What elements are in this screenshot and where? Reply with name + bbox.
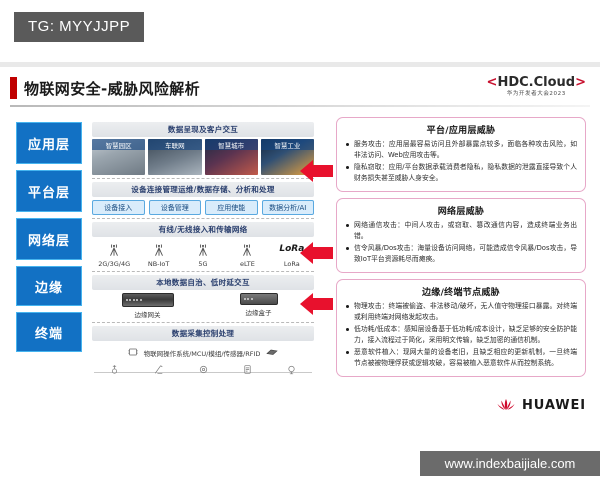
app-card-smart-industry-label: 智慧工业	[261, 139, 314, 150]
list-item: 恶意软件植入：现网大量的设备老旧，且缺乏相应的更新机制，一旦终端节点被被物理俘获…	[345, 347, 577, 369]
camera-icon	[181, 363, 225, 376]
edge-item-row: 边缘网关 边缘盒子	[92, 293, 314, 319]
list-item: 服务攻击：应用层最容易访问且外部暴露点较多，面临各种攻击风险，如非法访问、Web…	[345, 139, 577, 161]
list-item: 物理攻击：终端被偷盗、非法移动/破坏，无人值守物理接口暴露。对终端或利用终端对网…	[345, 301, 577, 323]
network-item-nbiot[interactable]: NB-IoT	[136, 240, 180, 268]
platform-button-app-enablement[interactable]: 应用使能	[205, 200, 258, 215]
panel-network-layer-list: 网络通信攻击：中间人攻击，或窃取、篡改通信内容，造成终端业务出错。 信令风暴/D…	[345, 220, 577, 265]
edge-item-gateway-label: 边缘网关	[92, 309, 203, 319]
separator-network-edge	[92, 271, 314, 272]
layer-column: 应用层 平台层 网络层 边缘 终端	[16, 122, 82, 358]
huawei-logo: HUAWEI	[495, 397, 586, 413]
panel-platform-application-title: 平台/应用层威胁	[345, 123, 577, 136]
panel-network-layer-threats: 网络层威胁 网络通信攻击：中间人攻击，或窃取、篡改通信内容，造成终端业务出错。 …	[336, 198, 586, 273]
band-edge-header: 本地数据自治、低时延交互	[92, 275, 314, 290]
list-item: 信令风暴/Dos攻击：海量设备访问网络，可能造成信令风暴/Dos攻击，导致IoT…	[345, 243, 577, 265]
layer-network-label: 网络层	[28, 230, 70, 249]
platform-button-data-analytics[interactable]: 数据分析/AI	[262, 200, 315, 215]
list-item: 隐私窃取：应用/平台数据承载消费者隐私，隐私数据的泄露直接导致个人财务损失甚至威…	[345, 162, 577, 184]
sensor-icon	[270, 363, 314, 376]
cell-tower-icon	[92, 240, 136, 259]
edge-gateway-device-icon	[122, 293, 174, 307]
hdc-cloud-logo: <HDC.Cloud> 华为开发者大会2023	[487, 76, 586, 98]
terminal-tech-row: 物联网操作系统/MCU/模组/传感器/RFID	[92, 344, 314, 362]
site-watermark: www.indexbaijiale.com	[420, 451, 600, 476]
edge-item-box[interactable]: 边缘盒子	[203, 293, 314, 319]
band-terminal-header: 数据采集控制处理	[92, 326, 314, 341]
app-card-smart-city[interactable]: 智慧城市	[205, 139, 258, 175]
bracket-left-icon: <	[487, 75, 498, 90]
layer-platform[interactable]: 平台层	[16, 170, 82, 212]
terminal-icon-set	[92, 363, 314, 376]
cell-tower-icon	[136, 240, 180, 259]
title-accent-bar	[10, 77, 17, 99]
meter-icon	[225, 363, 269, 376]
app-card-campus-label: 智慧园区	[92, 139, 145, 150]
band-terminal: 数据采集控制处理 物联网操作系统/MCU/模组/传感器/RFID	[92, 326, 314, 383]
layer-application-label: 应用层	[28, 134, 70, 153]
panel-edge-terminal-threats: 边缘/终端节点威胁 物理攻击：终端被偷盗、非法移动/破坏，无人值守物理接口暴露。…	[336, 279, 586, 377]
layer-platform-label: 平台层	[28, 182, 70, 201]
module-icon	[92, 363, 136, 376]
platform-button-device-management[interactable]: 设备管理	[149, 200, 202, 215]
network-item-5g-label: 5G	[181, 260, 225, 268]
band-application: 数据呈现及客户交互 智慧园区 车联网 智慧城市 智慧工业	[92, 122, 314, 175]
layer-terminal-label: 终端	[35, 323, 63, 342]
network-item-2g3g4g-label: 2G/3G/4G	[92, 260, 136, 268]
separator-application-platform	[92, 178, 314, 179]
platform-button-device-access[interactable]: 设备接入	[92, 200, 145, 215]
band-application-header: 数据呈现及客户交互	[92, 122, 314, 137]
hdc-logo-title: HDC.Cloud	[497, 75, 575, 90]
app-card-smart-city-label: 智慧城市	[205, 139, 258, 150]
threat-panel-column: 平台/应用层威胁 服务攻击：应用层最容易访问且外部暴露点较多，面临各种攻击风险，…	[336, 117, 586, 383]
tg-badge: TG: MYYJJPP	[14, 12, 144, 42]
network-item-elte-label: eLTE	[225, 260, 269, 268]
panel-platform-application-list: 服务攻击：应用层最容易访问且外部暴露点较多，面临各种攻击风险，如非法访问、Web…	[345, 139, 577, 184]
app-card-connected-car[interactable]: 车联网	[148, 139, 201, 175]
terminal-tech-text: 物联网操作系统/MCU/模组/传感器/RFID	[144, 348, 261, 358]
huawei-wordmark: HUAWEI	[522, 398, 586, 413]
terminal-device-row	[92, 363, 314, 383]
layer-terminal[interactable]: 终端	[16, 312, 82, 352]
antenna-icon	[136, 363, 180, 376]
network-item-5g[interactable]: 5G	[181, 240, 225, 268]
hdc-logo-subtitle: 华为开发者大会2023	[487, 92, 586, 98]
layer-edge-label: 边缘	[35, 277, 63, 296]
panel-edge-terminal-list: 物理攻击：终端被偷盗、非法移动/破坏，无人值守物理接口暴露。对终端或利用终端对网…	[345, 301, 577, 369]
app-card-campus[interactable]: 智慧园区	[92, 139, 145, 175]
network-item-nbiot-label: NB-IoT	[136, 260, 180, 268]
network-item-row: 2G/3G/4G NB-IoT	[92, 240, 314, 268]
layer-application[interactable]: 应用层	[16, 122, 82, 164]
cell-tower-icon	[181, 240, 225, 259]
band-edge: 本地数据自治、低时延交互 边缘网关 边缘盒子	[92, 275, 314, 319]
network-item-elte[interactable]: eLTE	[225, 240, 269, 268]
footer-strip: www.indexbaijiale.com	[0, 447, 600, 480]
architecture-stack: 数据呈现及客户交互 智慧园区 车联网 智慧城市 智慧工业	[92, 122, 314, 386]
bracket-right-icon: >	[575, 75, 586, 90]
app-card-connected-car-label: 车联网	[148, 139, 201, 150]
list-item: 低功耗/低成本：感知层设备基于低功耗/成本设计，缺乏足够的安全防护能力，接入流程…	[345, 324, 577, 346]
rfid-tag-icon	[265, 344, 279, 362]
band-network-header: 有线/无线接入和传输网络	[92, 222, 314, 237]
chip-icon	[127, 344, 139, 362]
list-item: 网络通信攻击：中间人攻击，或窃取、篡改通信内容，造成终端业务出错。	[345, 220, 577, 242]
separator-platform-network	[92, 218, 314, 219]
top-strip: TG: MYYJJPP	[0, 0, 600, 62]
layer-edge[interactable]: 边缘	[16, 266, 82, 306]
hdc-logo-main: <HDC.Cloud>	[487, 76, 586, 89]
application-card-row: 智慧园区 车联网 智慧城市 智慧工业	[92, 139, 314, 175]
band-network: 有线/无线接入和传输网络 2G/3G/4G	[92, 222, 314, 268]
band-platform-header: 设备连接管理运维/数据存储、分析和处理	[92, 182, 314, 197]
page-title: 物联网安全-威胁风险解析	[10, 77, 200, 99]
slide-title-text: 物联网安全-威胁风险解析	[24, 78, 200, 99]
network-item-2g3g4g[interactable]: 2G/3G/4G	[92, 240, 136, 268]
layer-network[interactable]: 网络层	[16, 218, 82, 260]
panel-network-layer-title: 网络层威胁	[345, 204, 577, 217]
slide-canvas: 物联网安全-威胁风险解析 <HDC.Cloud> 华为开发者大会2023 应用层…	[0, 67, 600, 447]
edge-item-box-label: 边缘盒子	[203, 307, 314, 317]
title-underline	[10, 105, 590, 107]
huawei-flower-icon	[495, 397, 517, 413]
band-platform: 设备连接管理运维/数据存储、分析和处理 设备接入 设备管理 应用使能 数据分析/…	[92, 182, 314, 215]
panel-platform-application-threats: 平台/应用层威胁 服务攻击：应用层最容易访问且外部暴露点较多，面临各种攻击风险，…	[336, 117, 586, 192]
panel-edge-terminal-title: 边缘/终端节点威胁	[345, 285, 577, 298]
cell-tower-icon	[225, 240, 269, 259]
edge-box-device-icon	[240, 293, 278, 305]
platform-button-row: 设备接入 设备管理 应用使能 数据分析/AI	[92, 200, 314, 215]
slide-screenshot: TG: MYYJJPP 物联网安全-威胁风险解析 <HDC.Cloud> 华为开…	[0, 0, 600, 480]
edge-item-gateway[interactable]: 边缘网关	[92, 293, 203, 319]
separator-edge-terminal	[92, 322, 314, 323]
